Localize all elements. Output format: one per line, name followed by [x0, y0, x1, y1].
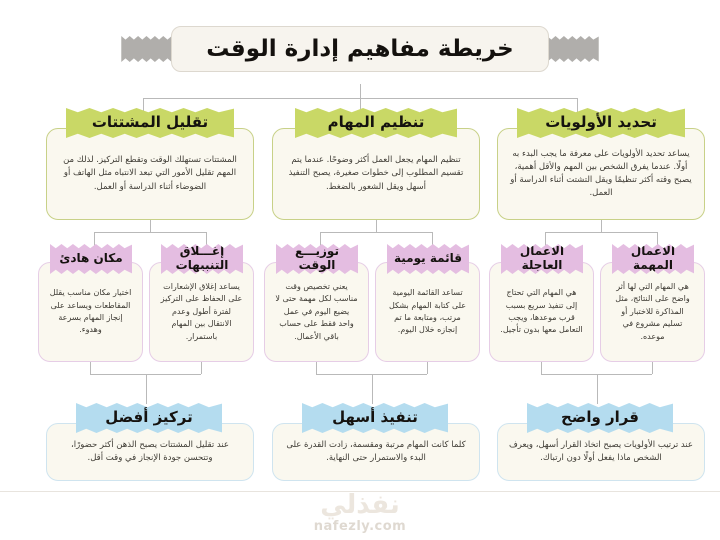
branch-heading-reduce-distractions[interactable]: تقليل المشتتات [66, 108, 234, 138]
connector-distractions-drop-left [206, 232, 207, 246]
connector-priorities-drop-left [657, 232, 658, 246]
branch-heading-priorities[interactable]: تحديد الأولويات [517, 108, 685, 138]
sub-heading-time-distribution[interactable]: توزيـــع الوقت [276, 244, 358, 274]
concept-map-canvas: خريطة مفاهيم إدارة الوقت يساعد تحديد الأ… [0, 0, 720, 540]
title-ribbon: خريطة مفاهيم إدارة الوقت [0, 26, 720, 72]
connector-distractions-out-drop-b [201, 362, 202, 374]
sub-heading-mute-notifications[interactable]: إغـــلاق التنبيهات [161, 244, 243, 274]
connector-title-drop-left [577, 98, 578, 112]
connector-title-drop-right [143, 98, 144, 112]
footer-divider [0, 491, 720, 492]
connector-distractions-out-drop-a [90, 362, 91, 374]
branch-card-reduce-distractions: المشتتات تستهلك الوقت وتقطع التركيز. لذل… [46, 128, 254, 220]
outcome-heading-clear-decision[interactable]: قرار واضح [527, 403, 673, 433]
sub-heading-important-tasks[interactable]: الأعمال المهمة [612, 244, 694, 274]
watermark-arabic: نفذلي [320, 492, 400, 518]
branch-card-task-organization: تنظيم المهام يجعل العمل أكثر وضوحًا. عند… [272, 128, 480, 220]
connector-distractions-drop-right [94, 232, 95, 246]
connector-distractions-out-stem [146, 374, 147, 404]
sub-card-time-distribution: يعني تخصيص وقت مناسب لكل مهمة حتى لا يضي… [264, 262, 369, 362]
connector-taskorg-drop-left [432, 232, 433, 246]
sub-card-mute-notifications: يساعد إغلاق الإشعارات على الحفاظ على الت… [149, 262, 254, 362]
sub-heading-quiet-place[interactable]: مكان هادئ [50, 244, 132, 274]
connector-priorities-out-drop-a [541, 362, 542, 374]
connector-priorities-out-stem [597, 374, 598, 404]
sub-heading-daily-list[interactable]: قائمة يومية [387, 244, 469, 274]
branch-card-priorities: يساعد تحديد الأولويات على معرفة ما يجب ا… [497, 128, 705, 220]
watermark-latin: nafezly.com [314, 519, 406, 534]
connector-priorities-stem [601, 220, 602, 232]
sub-card-important-tasks: هي المهام التي لها أثر واضح على النتائج،… [600, 262, 705, 362]
sub-card-quiet-place: اختيار مكان مناسب يقلل المقاطعات ويساعد … [38, 262, 143, 362]
connector-priorities-drop-right [545, 232, 546, 246]
outcome-heading-better-focus[interactable]: تركيز أفضل [76, 403, 222, 433]
sub-card-daily-list: تساعد القائمة اليومية على كتابة المهام ب… [375, 262, 480, 362]
connector-taskorg-out-drop-b [427, 362, 428, 374]
sub-card-urgent-tasks: هي المهام التي تحتاج إلى تنفيذ سريع بسبب… [489, 262, 594, 362]
connector-title-stem [360, 84, 361, 98]
branch-heading-task-organization[interactable]: تنظيم المهام [295, 108, 457, 138]
connector-distractions-stem [150, 220, 151, 232]
page-title: خريطة مفاهيم إدارة الوقت [171, 26, 548, 72]
connector-taskorg-out-drop-a [316, 362, 317, 374]
sub-heading-urgent-tasks[interactable]: الأعمال العاجلة [501, 244, 583, 274]
connector-priorities-bar [545, 232, 657, 233]
connector-taskorg-out-stem [372, 374, 373, 404]
connector-taskorg-stem [376, 220, 377, 232]
connector-taskorg-drop-right [320, 232, 321, 246]
connector-distractions-bar [94, 232, 206, 233]
connector-priorities-out-drop-b [652, 362, 653, 374]
connector-taskorg-bar [320, 232, 432, 233]
outcome-heading-easier-execution[interactable]: تنفيذ أسهل [302, 403, 448, 433]
watermark: نفذلي nafezly.com [0, 492, 720, 534]
